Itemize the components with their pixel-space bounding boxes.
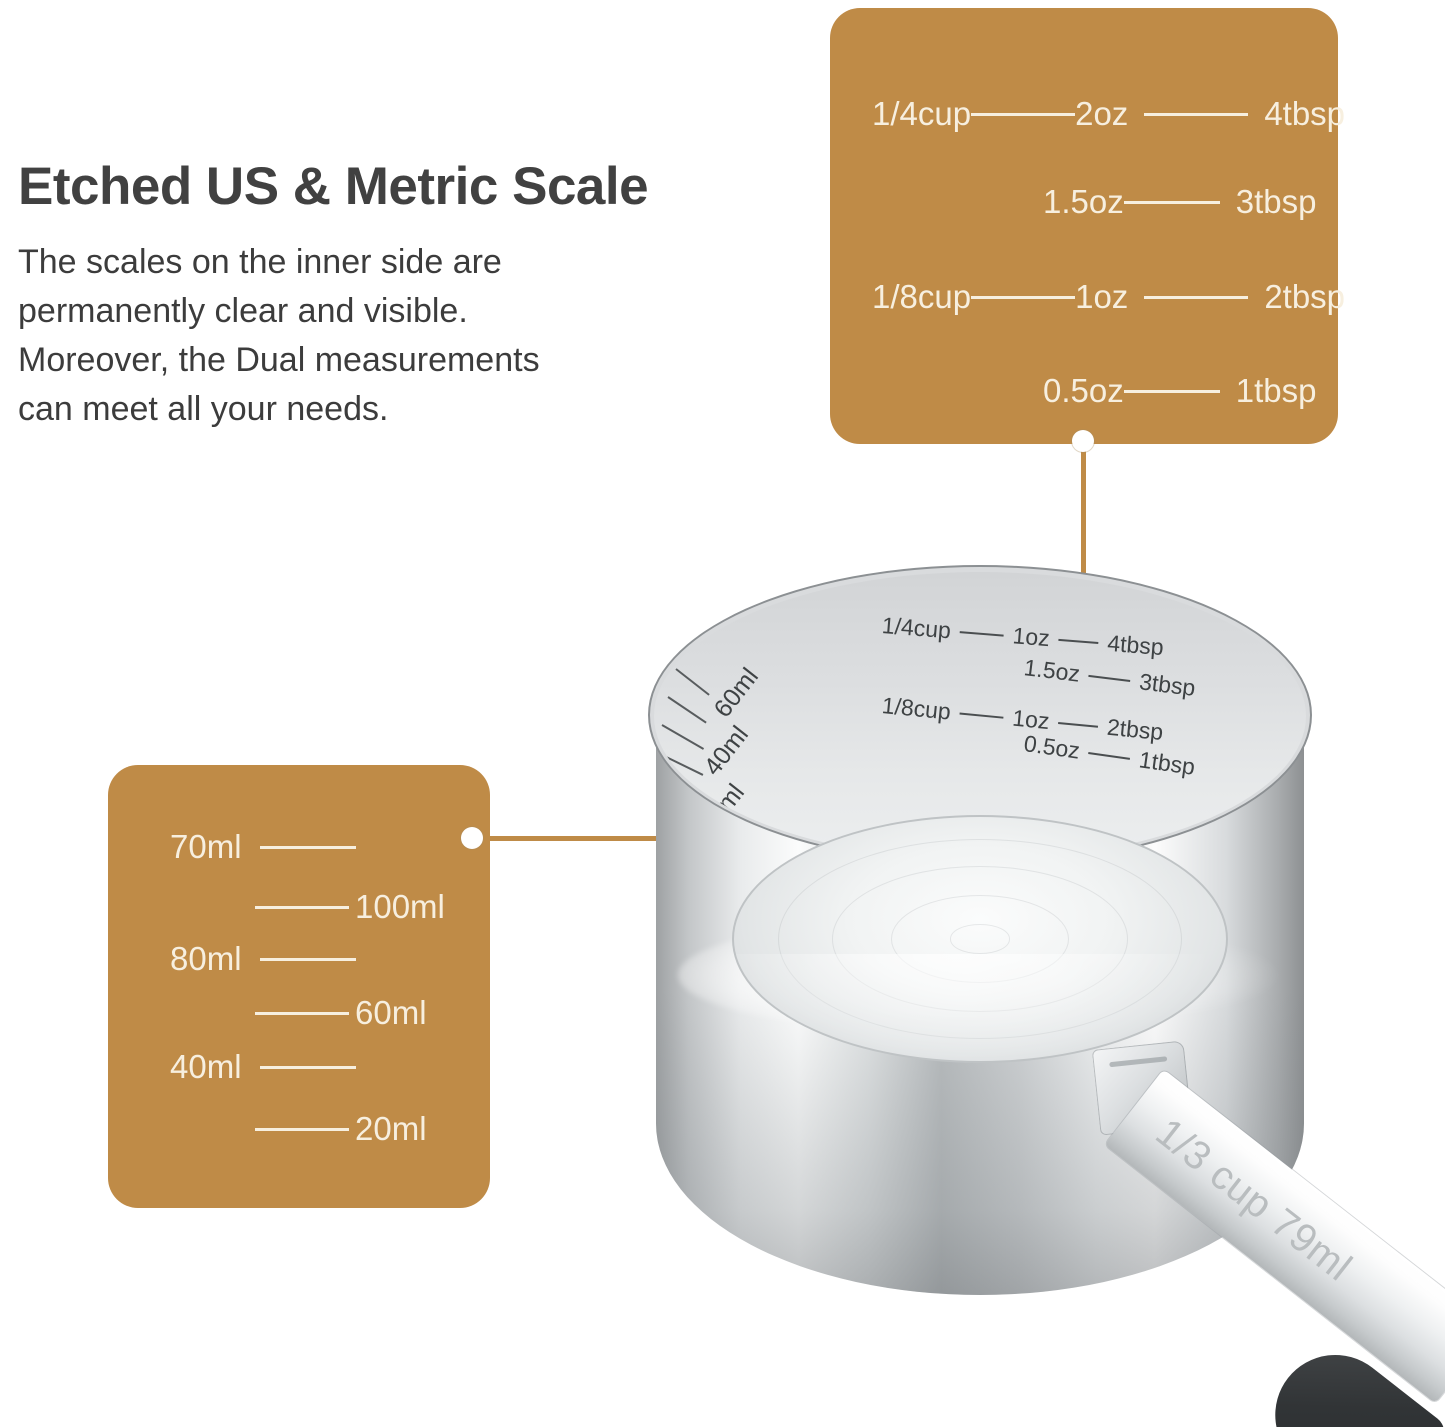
cup-etch-us-0-dash-left <box>960 631 1004 636</box>
metric-scale-row: 70ml <box>108 828 356 866</box>
us-row-2-oz: 1oz <box>1075 278 1128 316</box>
cup-etch-us-0-dash-right <box>1059 638 1099 643</box>
ml-row-1-dash <box>255 906 349 909</box>
us-row-1-dash <box>1124 201 1220 204</box>
ml-row-0-dash <box>260 846 356 849</box>
cup-etch-us-2-dash-left <box>960 712 1004 718</box>
us-row-2-dash-right <box>1144 296 1248 299</box>
cup-etch-ml-1: 40ml <box>699 721 755 782</box>
us-scale-row: 1/4cup 2oz 4tbsp <box>830 95 1345 133</box>
us-row-1-tbsp: 3tbsp <box>1236 183 1317 221</box>
us-row-3-oz: 0.5oz <box>1043 372 1124 410</box>
cup-etch-ml-label: 60ml <box>709 663 765 724</box>
cup-etch-us-row: 1/8cup 1oz 2tbsp <box>881 692 1165 746</box>
ml-row-4-label: 40ml <box>170 1048 242 1086</box>
us-row-0-dash-left <box>971 113 1075 116</box>
ml-row-3-dash <box>255 1012 349 1015</box>
product-feature-image: Etched US & Metric Scale The scales on t… <box>0 0 1445 1427</box>
ml-row-3-label: 60ml <box>355 994 427 1032</box>
ml-row-2-label: 80ml <box>170 940 242 978</box>
leader-dot-card-top <box>1072 430 1094 452</box>
body-copy-line-3: Moreover, the Dual measurements <box>18 336 658 385</box>
page-title: Etched US & Metric Scale <box>18 158 798 216</box>
us-row-0-dash-right <box>1144 113 1248 116</box>
cup-etch-us-row: 1/4cup 1oz 4tbsp <box>881 612 1165 661</box>
cup-inner-bottom <box>732 815 1228 1063</box>
cup-tick <box>675 668 709 695</box>
ml-row-2-dash <box>260 958 356 961</box>
cup-etch-us-1-dash <box>1089 674 1131 681</box>
metric-scale-row: 80ml <box>108 940 356 978</box>
us-scale-row: 0.5oz 1tbsp <box>830 372 1316 410</box>
cup-tick <box>667 696 706 723</box>
us-row-3-dash <box>1124 390 1220 393</box>
us-row-0-oz: 2oz <box>1075 95 1128 133</box>
us-row-2-dash-left <box>971 296 1075 299</box>
cup-etch-ml-label: 40ml <box>699 721 755 782</box>
ml-row-4-dash <box>260 1066 356 1069</box>
us-row-2-cup: 1/8cup <box>872 278 971 316</box>
metric-scale-row: 40ml <box>108 1048 356 1086</box>
ml-row-5-label: 20ml <box>355 1110 427 1148</box>
leader-dot-card-left <box>461 827 483 849</box>
metric-scale-row: 100ml <box>108 888 445 926</box>
cup-etch-us-row: 1.5oz 3tbsp <box>1022 654 1197 702</box>
body-copy: The scales on the inner side are permane… <box>18 238 658 434</box>
cup-etch-us-0-tbsp: 4tbsp <box>1106 630 1164 661</box>
ml-row-1-label: 100ml <box>355 888 445 926</box>
us-row-2-tbsp: 2tbsp <box>1264 278 1345 316</box>
measuring-cup: 60ml 40ml 20ml 1/4cup 1oz 4tbsp 1.5oz 3t… <box>648 565 1348 1285</box>
us-row-0-cup: 1/4cup <box>872 95 971 133</box>
ml-row-0-label: 70ml <box>170 828 242 866</box>
us-scale-row: 1.5oz 3tbsp <box>830 183 1316 221</box>
cup-tick <box>662 724 705 750</box>
cup-etch-ml-0: 60ml <box>709 663 765 724</box>
body-copy-line-1: The scales on the inner side are <box>18 238 658 287</box>
cup-etch-us-0-cup: 1/4cup <box>881 612 952 644</box>
metric-scale-row: 20ml <box>108 1110 427 1148</box>
us-row-1-oz: 1.5oz <box>1043 183 1124 221</box>
body-copy-line-4: can meet all your needs. <box>18 385 658 434</box>
metric-scale-row: 60ml <box>108 994 427 1032</box>
cup-etch-us-3-tbsp: 1tbsp <box>1137 746 1196 781</box>
cup-etch-us-2-tbsp: 2tbsp <box>1106 714 1165 746</box>
cup-etch-us-1-oz: 1.5oz <box>1022 654 1081 688</box>
us-row-3-tbsp: 1tbsp <box>1236 372 1317 410</box>
cup-etch-us-1-tbsp: 3tbsp <box>1138 668 1197 702</box>
us-scale-row: 1/8cup 1oz 2tbsp <box>830 278 1345 316</box>
us-row-0-tbsp: 4tbsp <box>1264 95 1345 133</box>
cup-bottom-ring <box>950 924 1009 953</box>
cup-etch-us-2-cup: 1/8cup <box>881 692 952 725</box>
ml-row-5-dash <box>255 1128 349 1131</box>
cup-etch-us-3-dash <box>1088 752 1130 760</box>
cup-etch-us-2-dash-right <box>1058 721 1098 727</box>
cup-etch-us-0-oz: 1oz <box>1012 622 1051 652</box>
body-copy-line-2: permanently clear and visible. <box>18 287 658 336</box>
